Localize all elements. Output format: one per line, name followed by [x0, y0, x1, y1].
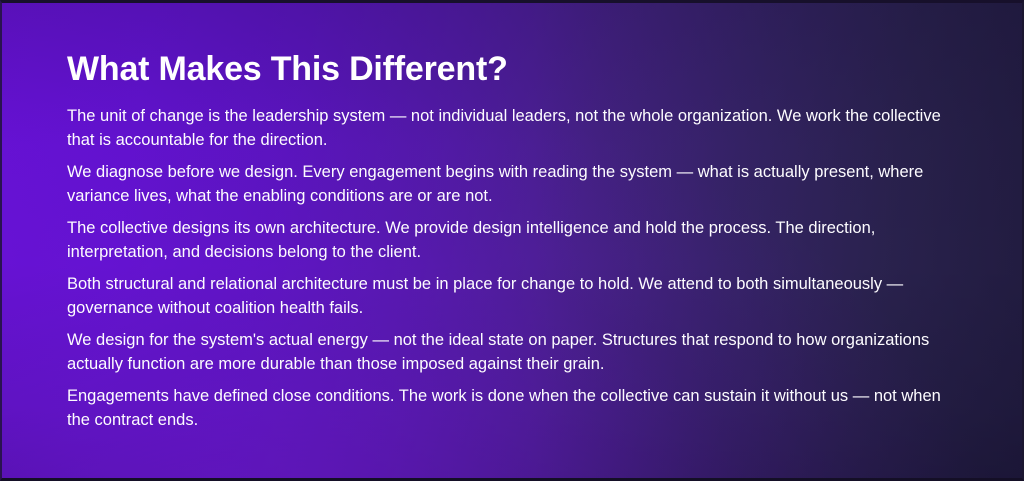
- page-title: What Makes This Different?: [67, 48, 508, 90]
- slide-canvas: What Makes This Different? The unit of c…: [0, 0, 1024, 481]
- paragraph-5: We design for the system's actual energy…: [67, 328, 951, 376]
- body-copy: The unit of change is the leadership sys…: [67, 104, 951, 432]
- paragraph-3: The collective designs its own architect…: [67, 216, 951, 264]
- slide-content: What Makes This Different? The unit of c…: [67, 3, 955, 478]
- paragraph-1: The unit of change is the leadership sys…: [67, 104, 951, 152]
- paragraph-4: Both structural and relational architect…: [67, 272, 951, 320]
- paragraph-2: We diagnose before we design. Every enga…: [67, 160, 951, 208]
- paragraph-6: Engagements have defined close condition…: [67, 384, 951, 432]
